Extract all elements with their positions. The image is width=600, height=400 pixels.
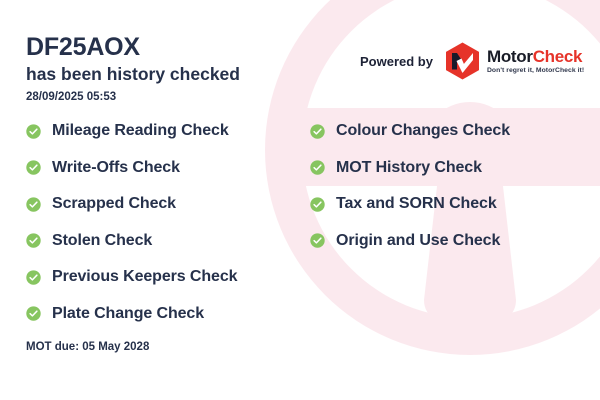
- motorcheck-hexagon-logo-icon: [445, 42, 480, 80]
- header-subtitle: has been history checked: [26, 64, 240, 85]
- registration-block: DF25AOX has been history checked 28/09/2…: [26, 34, 240, 103]
- check-circle-icon: [26, 124, 41, 139]
- check-circle-icon: [26, 306, 41, 321]
- check-item: Write-Offs Check: [26, 150, 306, 187]
- check-item-label: Mileage Reading Check: [52, 122, 229, 140]
- check-item: MOT History Check: [310, 150, 595, 187]
- powered-by-label: Powered by: [360, 54, 433, 69]
- check-item-label: Origin and Use Check: [336, 232, 500, 250]
- check-circle-icon: [310, 160, 325, 175]
- powered-by-branding: Powered by MotorCheck Don't regret it, M…: [360, 42, 584, 80]
- check-item-label: Scrapped Check: [52, 195, 176, 213]
- check-circle-icon: [26, 197, 41, 212]
- registration-number: DF25AOX: [26, 34, 240, 61]
- check-item: Tax and SORN Check: [310, 186, 595, 223]
- check-item-label: Colour Changes Check: [336, 122, 510, 140]
- check-item: Colour Changes Check: [310, 113, 595, 150]
- check-item-label: Write-Offs Check: [52, 159, 180, 177]
- check-circle-icon: [310, 197, 325, 212]
- check-circle-icon: [26, 233, 41, 248]
- check-item: Scrapped Check: [26, 186, 306, 223]
- check-item-label: Previous Keepers Check: [52, 268, 237, 286]
- check-timestamp: 28/09/2025 05:53: [26, 91, 240, 103]
- check-circle-icon: [310, 233, 325, 248]
- mot-due-text: MOT due: 05 May 2028: [26, 341, 149, 353]
- check-circle-icon: [310, 124, 325, 139]
- logo-tagline: Don't regret it, MotorCheck it!: [487, 68, 584, 75]
- logo-word-check: Check: [533, 47, 583, 66]
- check-item: Previous Keepers Check: [26, 259, 306, 296]
- check-circle-icon: [26, 160, 41, 175]
- motorcheck-wordmark: MotorCheck Don't regret it, MotorCheck i…: [487, 48, 584, 75]
- logo-word-motor: Motor: [487, 47, 533, 66]
- check-item-label: MOT History Check: [336, 159, 482, 177]
- checks-column-right: Colour Changes Check MOT History Check T…: [310, 113, 595, 259]
- check-circle-icon: [26, 270, 41, 285]
- checks-column-left: Mileage Reading Check Write-Offs Check S…: [26, 113, 306, 332]
- vehicle-history-check-card: DF25AOX has been history checked 28/09/2…: [0, 0, 600, 400]
- check-item-label: Tax and SORN Check: [336, 195, 497, 213]
- check-item: Mileage Reading Check: [26, 113, 306, 150]
- check-item: Plate Change Check: [26, 296, 306, 333]
- card-footer: MOT due: 05 May 2028: [26, 341, 149, 353]
- check-item: Origin and Use Check: [310, 223, 595, 260]
- check-item: Stolen Check: [26, 223, 306, 260]
- card-header: DF25AOX has been history checked 28/09/2…: [0, 0, 600, 110]
- check-item-label: Stolen Check: [52, 232, 152, 250]
- check-item-label: Plate Change Check: [52, 305, 204, 323]
